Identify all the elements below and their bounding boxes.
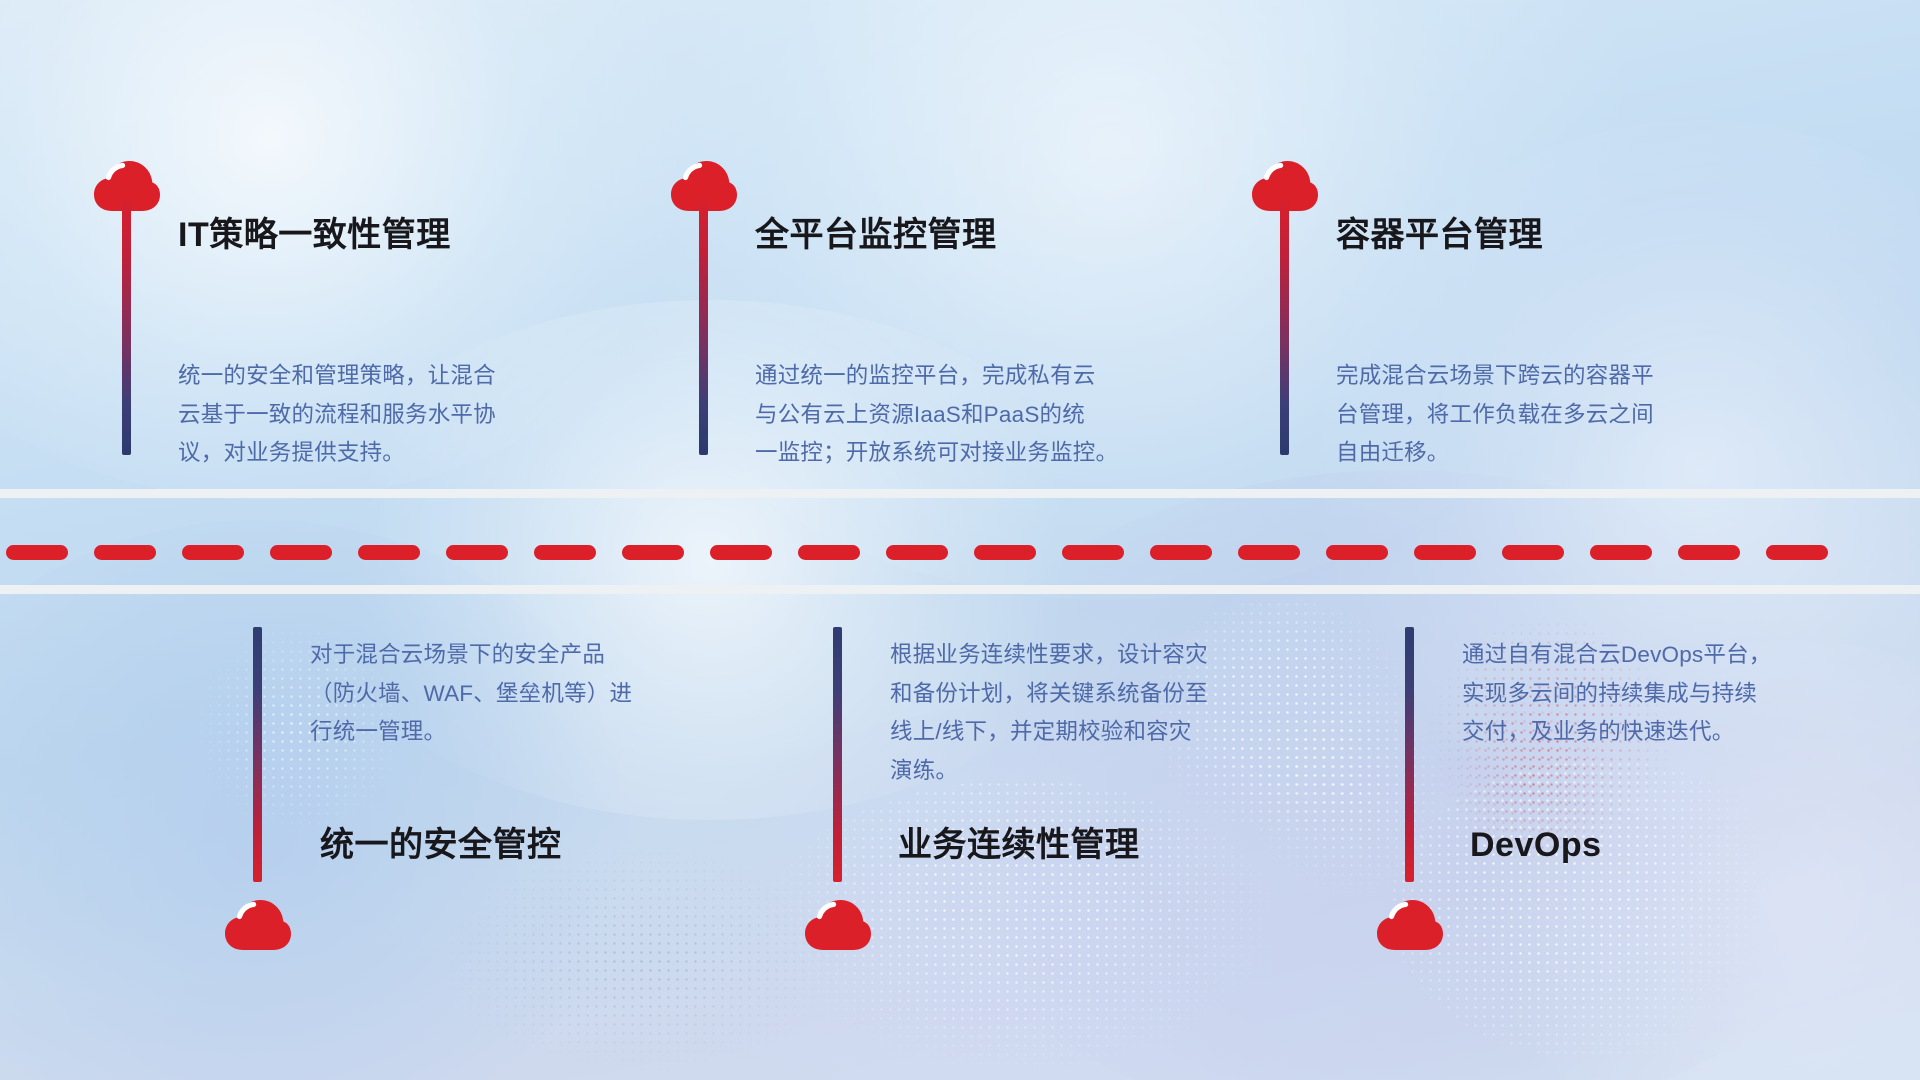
divider-dash <box>1414 545 1476 560</box>
divider-dash <box>94 545 156 560</box>
feature-body: 完成混合云场景下跨云的容器平 台管理，将工作负载在多云之间 自由迁移。 <box>1336 357 1786 473</box>
divider-dash <box>270 545 332 560</box>
divider-dash <box>886 545 948 560</box>
divider-dash <box>1766 545 1828 560</box>
dashed-divider <box>0 545 1920 560</box>
feature-body: 对于混合云场景下的安全产品 （防火墙、WAF、堡垒机等）进 行统一管理。 <box>310 636 750 752</box>
divider-dash <box>1150 545 1212 560</box>
connector-stem <box>699 200 708 455</box>
divider-dash <box>358 545 420 560</box>
feature-body: 根据业务连续性要求，设计容灾 和备份计划，将关键系统备份至 线上/线下，并定期校… <box>890 636 1330 791</box>
divider-dash <box>1238 545 1300 560</box>
infographic-canvas: IT策略一致性管理 统一的安全和管理策略，让混合 云基于一致的流程和服务水平协 … <box>0 0 1920 1080</box>
divider-dash <box>1502 545 1564 560</box>
divider-dash <box>798 545 860 560</box>
divider-dash <box>622 545 684 560</box>
divider-dash <box>1590 545 1652 560</box>
cloud-icon <box>1375 896 1445 952</box>
cloud-icon <box>223 896 293 952</box>
divider-dash <box>446 545 508 560</box>
divider-dash <box>1326 545 1388 560</box>
feature-heading: IT策略一致性管理 <box>178 217 451 254</box>
divider-rail-bottom <box>0 585 1920 594</box>
feature-heading: 业务连续性管理 <box>898 827 1140 864</box>
feature-heading: 全平台监控管理 <box>755 217 997 254</box>
connector-stem <box>122 200 131 455</box>
connector-stem <box>1280 200 1289 455</box>
divider-dash <box>1678 545 1740 560</box>
feature-body: 通过自有混合云DevOps平台， 实现多云间的持续集成与持续 交付，及业务的快速… <box>1462 636 1912 752</box>
feature-heading: DevOps <box>1470 827 1602 864</box>
divider-rail-top <box>0 489 1920 498</box>
feature-body: 通过统一的监控平台，完成私有云 与公有云上资源IaaS和PaaS的统 一监控；开… <box>755 357 1225 473</box>
divider-dash <box>6 545 68 560</box>
feature-heading: 统一的安全管控 <box>320 827 562 864</box>
connector-stem <box>1405 627 1414 882</box>
divider-dash <box>974 545 1036 560</box>
divider-dash <box>710 545 772 560</box>
feature-body: 统一的安全和管理策略，让混合 云基于一致的流程和服务水平协 议，对业务提供支持。 <box>178 357 618 473</box>
divider-dash <box>534 545 596 560</box>
divider-dash <box>182 545 244 560</box>
divider-dash <box>1062 545 1124 560</box>
feature-heading: 容器平台管理 <box>1336 217 1543 254</box>
cloud-icon <box>803 896 873 952</box>
connector-stem <box>253 627 262 882</box>
connector-stem <box>833 627 842 882</box>
